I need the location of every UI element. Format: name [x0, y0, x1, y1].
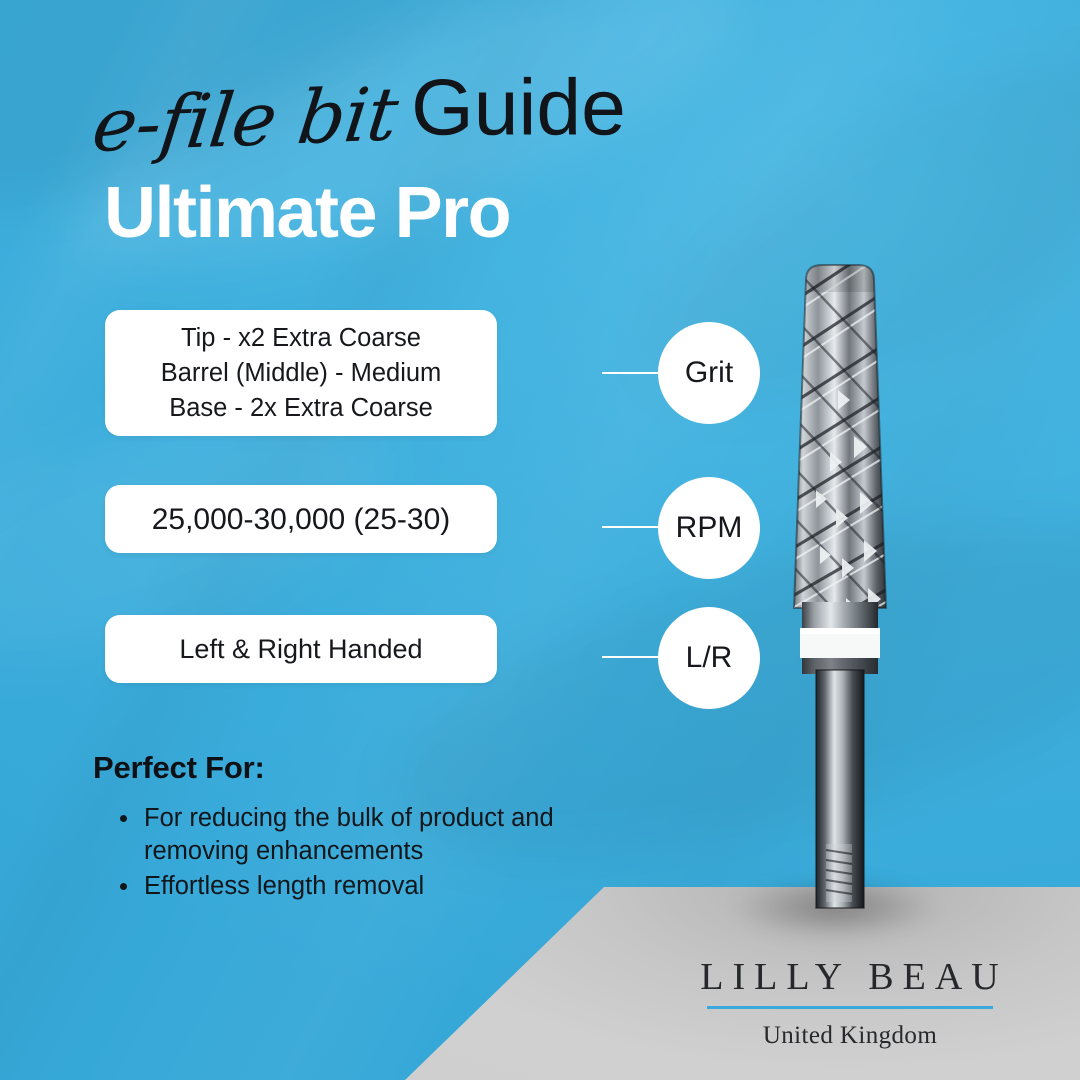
- infographic-canvas: e-file bitGuide Ultimate Pro Tip - x2 Ex…: [0, 0, 1080, 1080]
- page-title: e-file bitGuide: [88, 58, 631, 170]
- carbide-nail-drill-bit-icon: [760, 240, 960, 940]
- spec-connector-line: [602, 526, 660, 528]
- list-item: Effortless length removal: [144, 870, 614, 903]
- list-item: For reducing the bulk of product and rem…: [144, 802, 614, 868]
- bullet-icon: [120, 883, 127, 890]
- spec-badge-grit: Grit: [658, 322, 760, 424]
- perfect-for-list: For reducing the bulk of product and rem…: [112, 802, 614, 905]
- spec-line: Base - 2x Extra Coarse: [169, 391, 433, 426]
- spec-card-grit: Tip - x2 Extra Coarse Barrel (Middle) - …: [105, 310, 497, 436]
- brand-divider: [707, 1006, 993, 1009]
- brand-logo: LILLY BEAU United Kingdom: [690, 955, 1010, 1050]
- spec-badge-rpm: RPM: [658, 477, 760, 579]
- spec-badge-handedness: L/R: [658, 607, 760, 709]
- brand-location: United Kingdom: [690, 1022, 1010, 1050]
- spec-line: Tip - x2 Extra Coarse: [181, 321, 421, 356]
- page-title-plain: Guide: [411, 62, 626, 153]
- spec-card-rpm: 25,000-30,000 (25-30): [105, 485, 497, 553]
- perfect-for-heading: Perfect For:: [93, 750, 265, 786]
- carbide-bit-image: [760, 240, 960, 940]
- spec-card-handedness: Left & Right Handed: [105, 615, 497, 683]
- spec-connector-line: [602, 656, 660, 658]
- brand-name: LILLY BEAU: [690, 955, 1010, 999]
- list-item-label: Effortless length removal: [144, 872, 424, 900]
- bullet-icon: [120, 815, 127, 822]
- list-item-label: For reducing the bulk of product and rem…: [144, 804, 554, 865]
- spec-connector-line: [602, 372, 660, 374]
- page-title-script: e-file bit: [88, 71, 402, 169]
- spec-line: Left & Right Handed: [179, 632, 422, 667]
- page-subtitle: Ultimate Pro: [104, 172, 510, 254]
- spec-line: Barrel (Middle) - Medium: [161, 356, 442, 391]
- spec-line: 25,000-30,000 (25-30): [152, 502, 451, 537]
